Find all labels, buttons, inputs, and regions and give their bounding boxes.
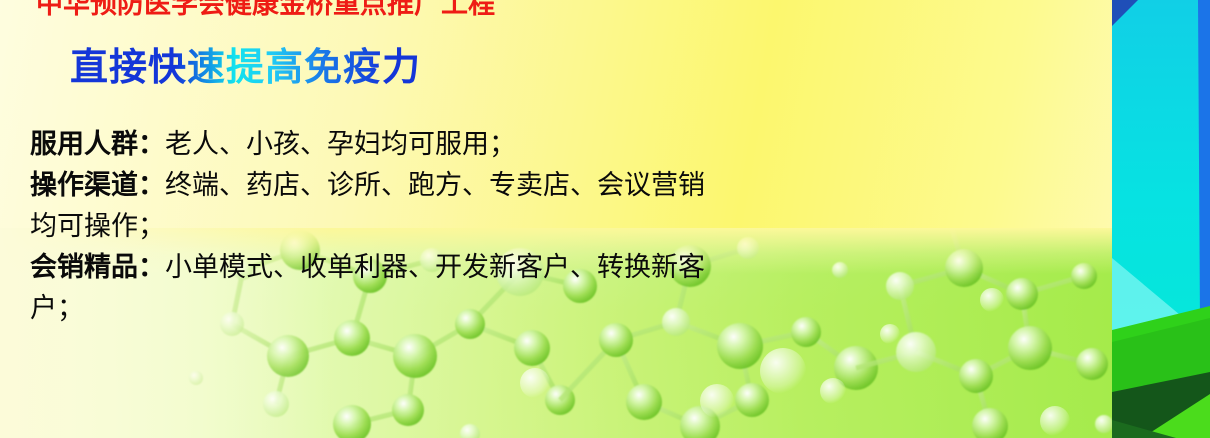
body-label-2: 操作渠道： [30, 170, 165, 201]
body-line-2: 操作渠道：终端、药店、诊所、跑方、专卖店、会议营销均可操作； [30, 165, 710, 247]
geometric-panel-svg [1112, 0, 1210, 438]
body-label-3: 会销精品： [30, 252, 165, 283]
body-value-1: 老人、小孩、孕妇均可服用； [165, 129, 516, 160]
body-label-1: 服用人群： [30, 129, 165, 160]
headline-blue: 直接快速提高免疫力 [70, 46, 421, 90]
geometric-corner-panel [1112, 0, 1210, 438]
body-line-1: 服用人群：老人、小孩、孕妇均可服用； [30, 124, 710, 165]
body-text-block: 服用人群：老人、小孩、孕妇均可服用； 操作渠道：终端、药店、诊所、跑方、专卖店、… [30, 124, 710, 329]
body-line-3: 会销精品：小单模式、收单利器、开发新客户、转换新客户； [30, 247, 710, 329]
poster-canvas: 中华预防医学会健康金桥重点推广工程 直接快速提高免疫力 服用人群：老人、小孩、孕… [0, 0, 1210, 438]
headline-red: 中华预防医学会健康金桥重点推广工程 [36, 0, 495, 18]
